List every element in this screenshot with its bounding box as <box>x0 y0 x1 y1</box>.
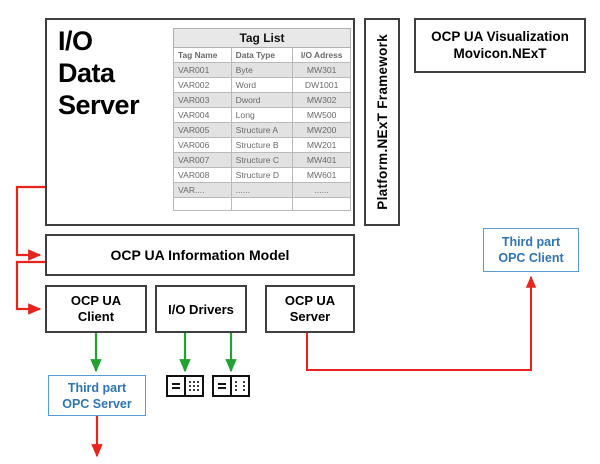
cell-io-address <box>293 198 351 211</box>
tag-list-title-row: Tag List <box>174 29 351 48</box>
tag-list-header-data-type: Data Type <box>231 48 293 63</box>
ua-server-text: OCP UA Server <box>285 293 335 326</box>
ua-server-line-1: OCP UA <box>285 293 335 309</box>
cell-tag-name: VAR003 <box>174 93 232 108</box>
cell-io-address: DW1001 <box>293 78 351 93</box>
cell-data-type: ...... <box>231 183 293 198</box>
cell-io-address: MW301 <box>293 63 351 78</box>
third-party-client-text: Third part OPC Client <box>498 234 563 266</box>
cell-tag-name: VAR006 <box>174 138 232 153</box>
third-party-server-line-2: OPC Server <box>62 396 131 412</box>
cell-io-address: MW201 <box>293 138 351 153</box>
table-row[interactable] <box>174 198 351 211</box>
cell-io-address: ...... <box>293 183 351 198</box>
ocp-ua-visualization-box: OCP UA Visualization Movicon.NExT <box>414 18 586 73</box>
ua-server-line-2: Server <box>285 309 335 325</box>
tag-list-header-tag-name: Tag Name <box>174 48 232 63</box>
cell-data-type: Word <box>231 78 293 93</box>
visualization-line-2: Movicon.NExT <box>431 46 569 63</box>
visualization-line-1: OCP UA Visualization <box>431 29 569 46</box>
io-data-server-title-line-2: Data <box>58 58 168 90</box>
cell-tag-name <box>174 198 232 211</box>
table-row[interactable]: VAR004 Long MW500 <box>174 108 351 123</box>
cell-tag-name: VAR001 <box>174 63 232 78</box>
table-row[interactable]: VAR005 Structure A MW200 <box>174 123 351 138</box>
plc-terminal-dots-icon <box>186 377 202 395</box>
tag-list-header-io-address: I/O Adress <box>293 48 351 63</box>
io-data-server-title: I/O Data Server <box>58 26 168 122</box>
table-row[interactable]: VAR006 Structure B MW201 <box>174 138 351 153</box>
plc-terminal-bars-icon <box>214 377 232 395</box>
visualization-text: OCP UA Visualization Movicon.NExT <box>431 29 569 63</box>
third-party-server-text: Third part OPC Server <box>62 380 131 412</box>
io-data-server-title-line-3: Server <box>58 90 168 122</box>
table-row[interactable]: VAR008 Structure D MW601 <box>174 168 351 183</box>
io-drivers-label: I/O Drivers <box>168 302 234 317</box>
red-connector-server-to-infomodel <box>17 187 45 255</box>
cell-tag-name: VAR005 <box>174 123 232 138</box>
table-row[interactable]: VAR007 Structure C MW401 <box>174 153 351 168</box>
table-row[interactable]: VAR002 Word DW1001 <box>174 78 351 93</box>
cell-data-type: Dword <box>231 93 293 108</box>
table-row[interactable]: VAR003 Dword MW302 <box>174 93 351 108</box>
ua-client-text: OCP UA Client <box>71 293 121 326</box>
cell-data-type: Structure C <box>231 153 293 168</box>
cell-data-type: Structure D <box>231 168 293 183</box>
plc-device-icon <box>166 375 204 397</box>
io-drivers-box: I/O Drivers <box>155 285 247 333</box>
tag-list-body: Tag List Tag Name Data Type I/O Adress V… <box>174 29 351 211</box>
cell-tag-name: VAR007 <box>174 153 232 168</box>
tag-list-title: Tag List <box>174 29 351 48</box>
cell-data-type <box>231 198 293 211</box>
third-party-client-line-1: Third part <box>498 234 563 250</box>
cell-data-type: Structure A <box>231 123 293 138</box>
cell-tag-name: VAR004 <box>174 108 232 123</box>
table-row[interactable]: VAR001 Byte MW301 <box>174 63 351 78</box>
third-party-server-line-1: Third part <box>62 380 131 396</box>
platform-framework-label: Platform.NExT Framework <box>375 34 390 210</box>
third-party-opc-client-box: Third part OPC Client <box>483 228 579 272</box>
cell-data-type: Long <box>231 108 293 123</box>
cell-io-address: MW200 <box>293 123 351 138</box>
red-connector-infomodel-to-uaclient <box>17 262 45 309</box>
plc-device-icon <box>212 375 250 397</box>
cell-io-address: MW500 <box>293 108 351 123</box>
tag-list-header-row: Tag Name Data Type I/O Adress <box>174 48 351 63</box>
platform-framework-panel: Platform.NExT Framework <box>364 18 400 226</box>
cell-tag-name: VAR002 <box>174 78 232 93</box>
plc-terminal-dots-icon <box>232 377 240 395</box>
plc-terminal-dots-icon <box>240 377 248 395</box>
ocp-ua-information-model-box: OCP UA Information Model <box>45 234 355 276</box>
ua-client-line-2: Client <box>71 309 121 325</box>
third-party-client-line-2: OPC Client <box>498 250 563 266</box>
cell-data-type: Byte <box>231 63 293 78</box>
cell-data-type: Structure B <box>231 138 293 153</box>
plc-terminal-bars-icon <box>168 377 186 395</box>
cell-io-address: MW401 <box>293 153 351 168</box>
tag-list-table: Tag List Tag Name Data Type I/O Adress V… <box>173 28 351 211</box>
ocp-ua-client-box: OCP UA Client <box>45 285 147 333</box>
cell-io-address: MW302 <box>293 93 351 108</box>
third-party-opc-server-box: Third part OPC Server <box>48 375 146 416</box>
io-data-server-title-line-1: I/O <box>58 26 168 58</box>
cell-tag-name: VAR.... <box>174 183 232 198</box>
cell-tag-name: VAR008 <box>174 168 232 183</box>
information-model-label: OCP UA Information Model <box>111 247 290 263</box>
ocp-ua-server-box: OCP UA Server <box>265 285 355 333</box>
ua-client-line-1: OCP UA <box>71 293 121 309</box>
cell-io-address: MW601 <box>293 168 351 183</box>
table-row[interactable]: VAR.... ...... ...... <box>174 183 351 198</box>
